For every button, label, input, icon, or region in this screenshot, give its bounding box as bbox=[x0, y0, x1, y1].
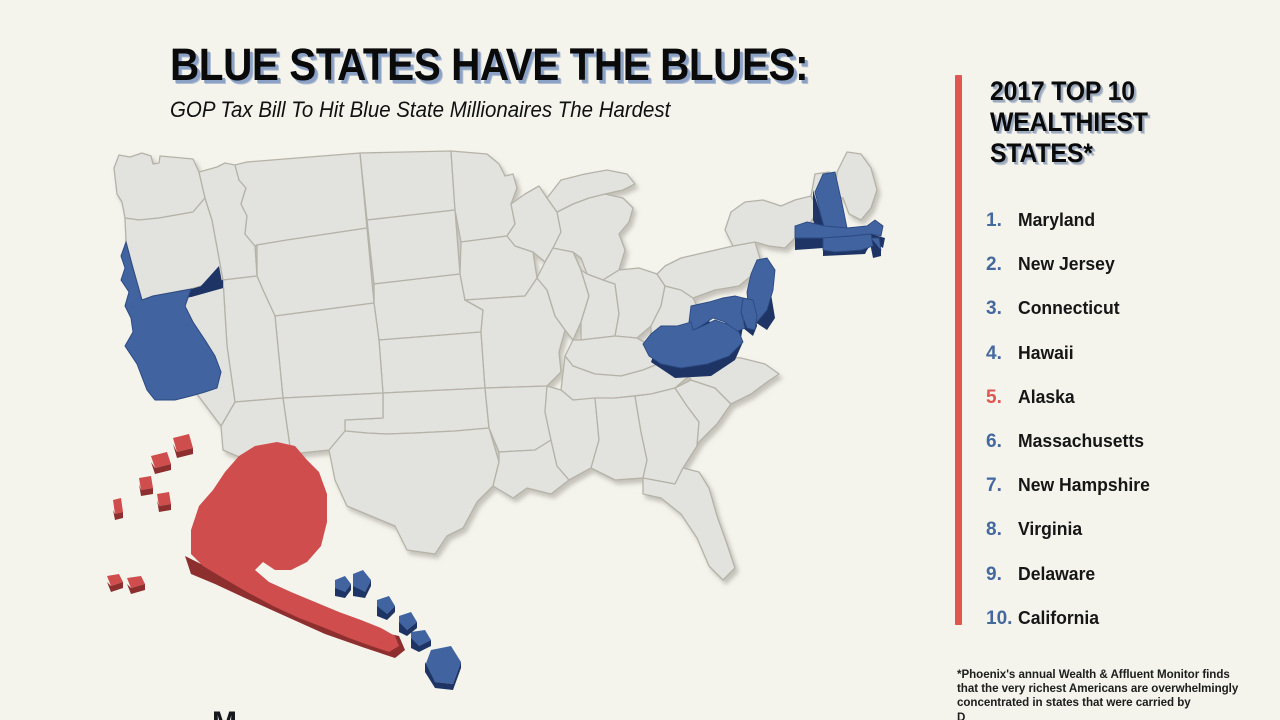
rank-number: 9. bbox=[986, 564, 1018, 586]
footnote: *Phoenix's annual Wealth & Affluent Moni… bbox=[957, 668, 1275, 720]
infographic-canvas: BLUE STATES HAVE THE BLUES: GOP Tax Bill… bbox=[0, 0, 1280, 720]
rank-number: 7. bbox=[986, 475, 1018, 497]
rank-number: 3. bbox=[986, 298, 1018, 320]
rank-number: 6. bbox=[986, 431, 1018, 453]
state-florida bbox=[643, 468, 735, 580]
panel-title-line-1: 2017 TOP 10 bbox=[990, 76, 1248, 107]
rank-state-name: New Hampshire bbox=[1018, 474, 1150, 496]
rank-state-name: Virginia bbox=[1018, 518, 1082, 540]
wealthiest-states-list: 1.Maryland2.New Jersey3.Connecticut4.Haw… bbox=[986, 209, 1276, 651]
list-item[interactable]: 1.Maryland bbox=[986, 209, 1276, 253]
page-subtitle: GOP Tax Bill To Hit Blue State Millionai… bbox=[170, 97, 877, 123]
corner-logo-glyph: M bbox=[212, 708, 246, 720]
rank-number: 2. bbox=[986, 254, 1018, 276]
footnote-line-3: concentrated in states that were carried… bbox=[957, 696, 1275, 710]
state-kansas bbox=[379, 332, 485, 393]
rank-state-name: Maryland bbox=[1018, 209, 1095, 231]
list-item[interactable]: 8.Virginia bbox=[986, 518, 1276, 562]
rank-state-name: New Jersey bbox=[1018, 253, 1115, 275]
headline-block: BLUE STATES HAVE THE BLUES: GOP Tax Bill… bbox=[170, 40, 930, 123]
state-washington bbox=[114, 153, 205, 220]
us-map bbox=[95, 150, 935, 720]
state-minnesota bbox=[451, 151, 517, 242]
list-item[interactable]: 7.New Hampshire bbox=[986, 474, 1276, 518]
rank-state-name: Hawaii bbox=[1018, 342, 1074, 364]
list-item[interactable]: 6.Massachusetts bbox=[986, 430, 1276, 474]
list-item[interactable]: 10.California bbox=[986, 607, 1276, 651]
state-north-dakota bbox=[360, 151, 455, 220]
rank-state-name: Massachusetts bbox=[1018, 430, 1144, 452]
list-item[interactable]: 9.Delaware bbox=[986, 563, 1276, 607]
rank-number: 4. bbox=[986, 343, 1018, 365]
rank-state-name: Connecticut bbox=[1018, 297, 1120, 319]
wealthiest-states-panel: 2017 TOP 10 WEALTHIEST STATES* bbox=[990, 76, 1270, 169]
rank-number: 8. bbox=[986, 519, 1018, 541]
state-colorado bbox=[275, 303, 383, 398]
rank-number: 1. bbox=[986, 210, 1018, 232]
list-item[interactable]: 5.Alaska bbox=[986, 386, 1276, 430]
rank-number: 10. bbox=[986, 608, 1018, 630]
list-item[interactable]: 2.New Jersey bbox=[986, 253, 1276, 297]
panel-title-line-2: WEALTHIEST bbox=[990, 107, 1248, 138]
rank-state-name: Delaware bbox=[1018, 563, 1095, 585]
alaska-islands-extrude bbox=[107, 444, 193, 594]
list-item[interactable]: 3.Connecticut bbox=[986, 297, 1276, 341]
footnote-line-1: *Phoenix's annual Wealth & Affluent Moni… bbox=[957, 668, 1275, 682]
footnote-line-2: that the very richest Americans are over… bbox=[957, 682, 1275, 696]
rank-state-name: California bbox=[1018, 607, 1099, 629]
corner-logo-mark: M bbox=[212, 708, 246, 720]
panel-accent-rail bbox=[955, 75, 962, 625]
panel-title-line-3: STATES* bbox=[990, 138, 1248, 169]
list-item[interactable]: 4.Hawaii bbox=[986, 342, 1276, 386]
footnote-line-4: D bbox=[957, 711, 1275, 720]
state-south-dakota bbox=[367, 210, 460, 284]
page-title: BLUE STATES HAVE THE BLUES: bbox=[170, 40, 854, 90]
state-arkansas bbox=[485, 386, 551, 452]
us-map-svg bbox=[95, 150, 935, 720]
state-texas bbox=[329, 428, 499, 554]
rank-number: 5. bbox=[986, 387, 1018, 409]
rank-state-name: Alaska bbox=[1018, 386, 1075, 408]
